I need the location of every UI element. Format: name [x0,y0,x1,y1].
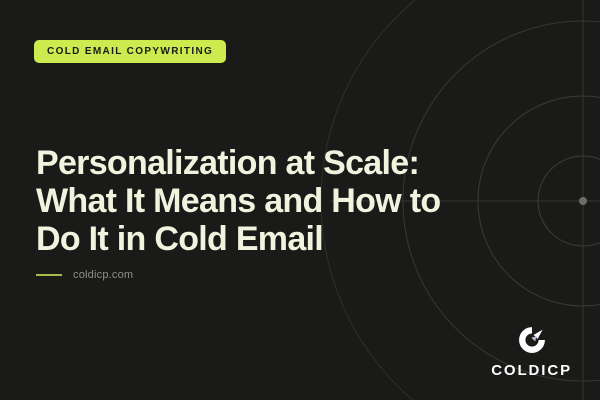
page-title-line-2: What It Means and How to [36,182,556,220]
brand-lockup: COLDICP [491,325,572,378]
page-title-line-1: Personalization at Scale: [36,144,556,182]
coldicp-logo-icon [517,325,547,355]
page-title: Personalization at Scale: What It Means … [36,144,556,258]
radar-center-dot [579,197,587,205]
category-badge: COLD EMAIL COPYWRITING [34,40,226,63]
social-card: COLD EMAIL COPYWRITING Personalization a… [0,0,600,400]
category-badge-label: COLD EMAIL COPYWRITING [47,46,213,57]
accent-dash-divider [36,274,62,276]
brand-wordmark: COLDICP [491,363,572,378]
website-url-row: coldicp.com [36,269,133,281]
website-url-label: coldicp.com [73,269,133,281]
page-title-line-3: Do It in Cold Email [36,220,556,258]
